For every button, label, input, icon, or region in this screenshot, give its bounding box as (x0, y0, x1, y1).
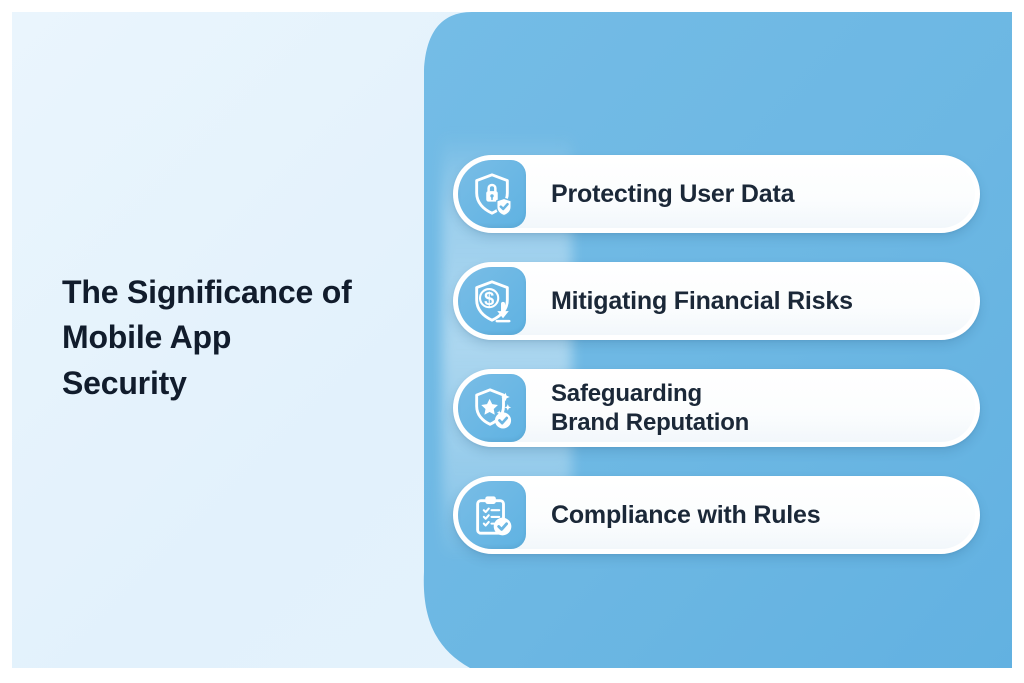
list-item[interactable]: $ Mitigating Financial Risks (453, 262, 980, 340)
shield-lock-check-icon (469, 171, 515, 217)
benefit-card-list: Protecting User Data $ (453, 155, 980, 554)
card-inner: $ Mitigating Financial Risks (458, 267, 975, 335)
shield-dollar-down-arrow-icon: $ (469, 278, 515, 324)
list-item-label: Protecting User Data (551, 179, 794, 210)
shield-star-check-icon (469, 385, 515, 431)
list-item-label: Safeguarding Brand Reputation (551, 379, 749, 438)
list-item-label: Mitigating Financial Risks (551, 286, 853, 317)
icon-tile (458, 481, 526, 549)
slide-canvas: The Significance of Mobile App Security (0, 0, 1024, 683)
list-item[interactable]: Compliance with Rules (453, 476, 980, 554)
light-background-panel: The Significance of Mobile App Security (12, 12, 1012, 668)
card-inner: Compliance with Rules (458, 481, 975, 549)
title-line-1: The Significance of (62, 270, 392, 315)
list-item[interactable]: Safeguarding Brand Reputation (453, 369, 980, 447)
title-line-2: Mobile App (62, 315, 392, 360)
card-inner: Protecting User Data (458, 160, 975, 228)
icon-tile (458, 160, 526, 228)
icon-tile (458, 374, 526, 442)
list-item-label: Compliance with Rules (551, 500, 820, 531)
title-line-3: Security (62, 361, 392, 406)
card-inner: Safeguarding Brand Reputation (458, 374, 975, 442)
page-title: The Significance of Mobile App Security (62, 270, 392, 406)
clipboard-checklist-check-icon (469, 492, 515, 538)
list-item[interactable]: Protecting User Data (453, 155, 980, 233)
icon-tile: $ (458, 267, 526, 335)
